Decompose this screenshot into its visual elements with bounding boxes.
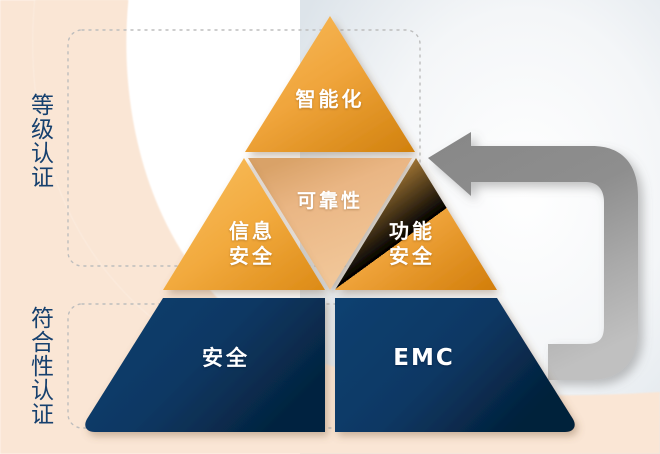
side-label-compliance-certification: 符合性认证 [27, 306, 50, 426]
side-label-grade-certification: 等级认证 [27, 93, 50, 189]
diagram-canvas: 等级认证 符合性认证 智能化 可靠性 信息 安全 功能 安全 安全 EMC [0, 0, 660, 454]
pyramid-diagram-svg [0, 0, 660, 454]
